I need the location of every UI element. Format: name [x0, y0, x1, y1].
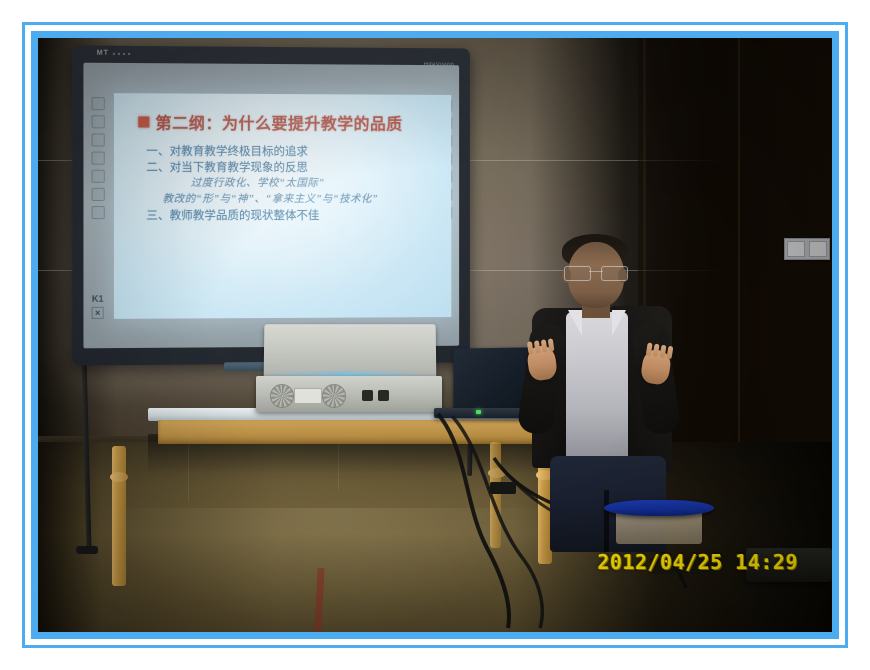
whiteboard-stand-foot	[76, 546, 98, 554]
whiteboard-surface: K1 × K1 ×	[83, 63, 459, 349]
interactive-whiteboard: MT HiteVision K1 ×	[72, 45, 470, 365]
lens	[601, 266, 628, 281]
eyeglasses	[564, 266, 628, 279]
document-camera-lid	[264, 324, 437, 379]
pen-icon[interactable]	[91, 97, 104, 110]
stool-seat	[604, 500, 714, 516]
redo-icon[interactable]	[91, 170, 104, 183]
whiteboard-left-k1-label: K1	[92, 294, 104, 304]
document-camera	[256, 324, 442, 412]
whiteboard-left-close-icon[interactable]: ×	[92, 307, 103, 319]
keyboard-icon[interactable]	[91, 133, 104, 146]
document-camera-body	[256, 376, 442, 412]
slide-line-1: 一、对教育教学终极目标的追求	[146, 144, 441, 161]
lens	[564, 266, 591, 281]
cooling-fan-grille	[322, 384, 346, 408]
camera-icon[interactable]	[91, 206, 104, 219]
switch-rocker	[809, 241, 827, 257]
shirt-collar	[612, 310, 626, 336]
slide-line-3: 三、教师教学品质的现状整体不佳	[146, 208, 441, 224]
whiteboard-logo-text: MT	[97, 50, 109, 57]
eraser-icon[interactable]	[91, 115, 104, 128]
framed-photo: MT HiteVision K1 ×	[0, 0, 870, 670]
undo-icon[interactable]	[91, 152, 104, 165]
slide-handwritten-line-2: 教改的“形”与“神”、“拿来主义”与“技术化”	[163, 192, 442, 208]
finger	[660, 345, 667, 359]
light-switch-plate	[784, 238, 830, 260]
slide-line-2: 二、对当下教育教学现象的反思	[146, 160, 441, 177]
door-frame-edge	[738, 38, 740, 458]
device-label-sticker	[294, 388, 322, 404]
switch-rocker	[787, 241, 805, 257]
whiteboard-brand-left: MT	[97, 50, 131, 57]
finger	[653, 344, 660, 358]
shirt-collar	[568, 310, 582, 336]
cooling-fan-grille	[270, 384, 294, 408]
slide-bullet-square-icon	[138, 116, 149, 127]
whiteboard-left-toolbar[interactable]: K1 ×	[87, 91, 109, 322]
table-leg	[112, 446, 126, 586]
save-icon[interactable]	[91, 188, 104, 201]
slide-body: 一、对教育教学终极目标的追求 二、对当下教育教学现象的反思 过度行政化、学校“太…	[146, 144, 441, 224]
whiteboard-indicator-dots	[113, 52, 130, 54]
projected-slide: 第二纲：为什么要提升教学的品质 一、对教育教学终极目标的追求 二、对当下教育教学…	[114, 93, 451, 319]
slide-handwritten-line-1: 过度行政化、学校“太国际”	[191, 176, 442, 192]
finger	[666, 346, 673, 360]
device-port	[378, 390, 389, 401]
finger	[646, 342, 653, 356]
device-port	[362, 390, 373, 401]
slide-title: 第二纲：为什么要提升教学的品质	[155, 109, 402, 134]
camera-timestamp: 2012/04/25 14:29	[597, 550, 798, 574]
photograph: MT HiteVision K1 ×	[38, 38, 832, 632]
leg-separation	[604, 490, 609, 552]
slide-title-row: 第二纲：为什么要提升教学的品质	[138, 109, 441, 134]
